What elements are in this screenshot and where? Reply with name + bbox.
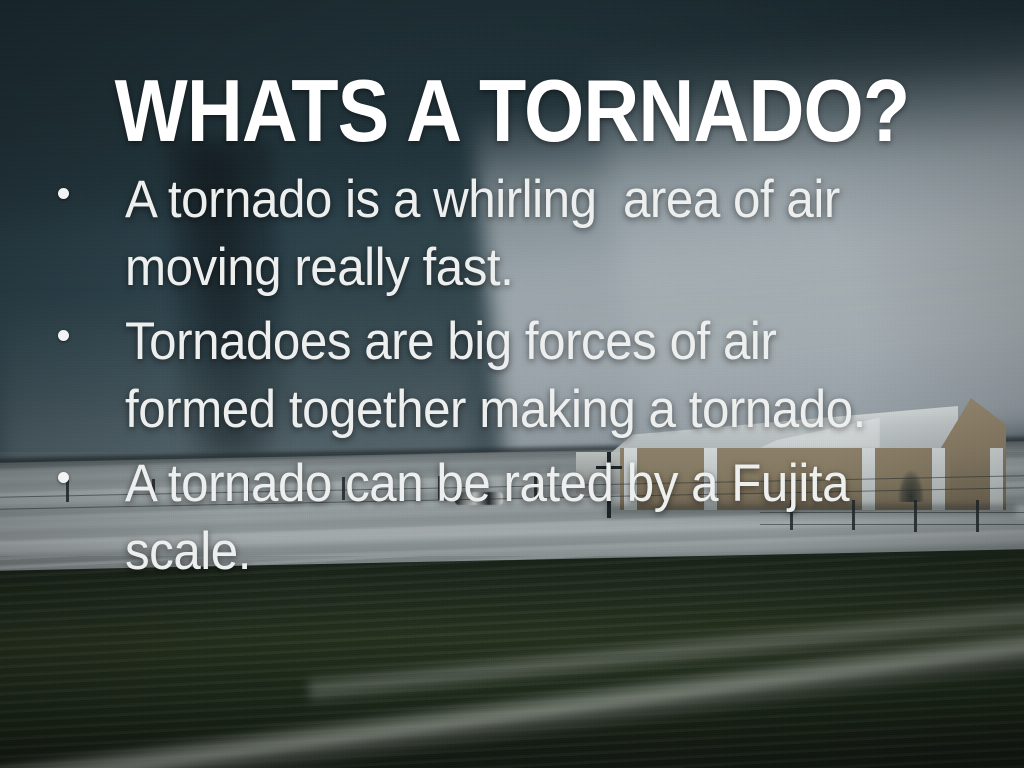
slide: WHATS A TORNADO? A tornado is a whirling… <box>0 0 1024 768</box>
bullet-text: A tornado can be rated by a Fujita scale… <box>125 450 887 586</box>
list-item: A tornado is a whirling area of air movi… <box>44 166 944 302</box>
bullet-text: A tornado is a whirling area of air movi… <box>125 166 887 302</box>
list-item: A tornado can be rated by a Fujita scale… <box>44 450 944 586</box>
bullet-text: Tornadoes are big forces of air formed t… <box>125 308 887 444</box>
list-item: Tornadoes are big forces of air formed t… <box>44 308 944 444</box>
page-title: WHATS A TORNADO? <box>61 67 962 155</box>
bullet-icon <box>58 188 69 199</box>
slide-content: WHATS A TORNADO? A tornado is a whirling… <box>0 0 1024 768</box>
bullet-icon <box>58 330 69 341</box>
bullet-list: A tornado is a whirling area of air movi… <box>44 166 944 592</box>
bullet-icon <box>58 472 69 483</box>
